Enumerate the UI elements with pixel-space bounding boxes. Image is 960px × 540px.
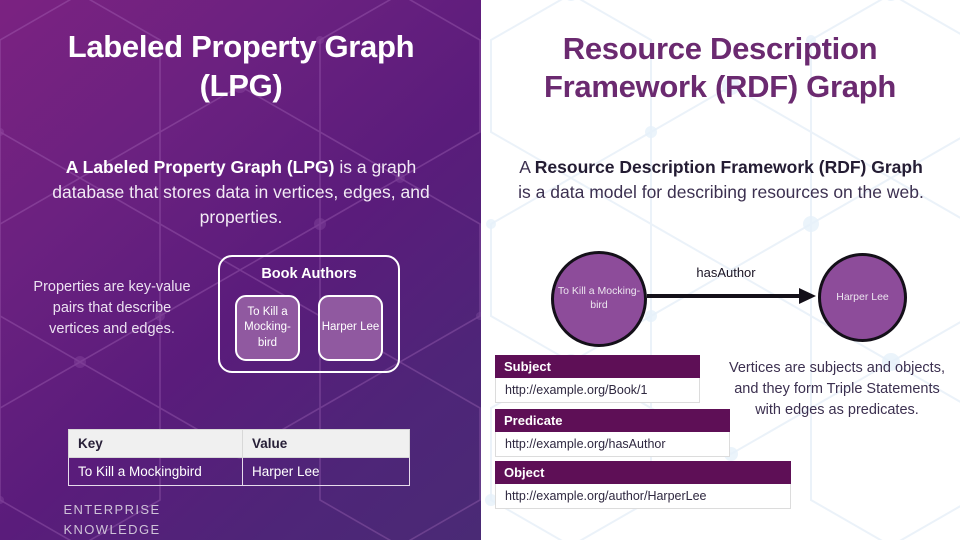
lpg-description: A Labeled Property Graph (LPG) is a grap… bbox=[28, 155, 454, 230]
triple-object-header: Object bbox=[495, 461, 791, 484]
slide-root: Labeled Property Graph (LPG) A Labeled P… bbox=[0, 0, 960, 540]
triple-predicate-header: Predicate bbox=[495, 409, 730, 432]
enterprise-knowledge-logo: ENTERPRISE KNOWLEDGE bbox=[30, 500, 194, 539]
rdf-edge-label: hasAuthor bbox=[651, 265, 801, 280]
key-value-table: Key Value To Kill a Mockingbird Harper L… bbox=[68, 429, 410, 486]
rdf-description-lead: A bbox=[519, 157, 535, 177]
triple-object-block: Object http://example.org/author/HarperL… bbox=[495, 461, 791, 509]
rdf-side-note: Vertices are subjects and objects, and t… bbox=[721, 358, 953, 421]
triple-predicate-value: http://example.org/hasAuthor bbox=[495, 432, 730, 457]
lpg-title: Labeled Property Graph (LPG) bbox=[26, 28, 456, 106]
lpg-properties-note: Properties are key-value pairs that desc… bbox=[32, 277, 192, 340]
table-cell-key: To Kill a Mockingbird bbox=[69, 458, 243, 486]
lpg-node-author: Harper Lee bbox=[318, 295, 383, 361]
lpg-panel: Labeled Property Graph (LPG) A Labeled P… bbox=[0, 0, 481, 540]
rdf-description-bold: Resource Description Framework (RDF) Gra… bbox=[535, 157, 923, 177]
triple-object-value: http://example.org/author/HarperLee bbox=[495, 484, 791, 509]
logo-line-2: KNOWLEDGE bbox=[30, 520, 194, 540]
triple-subject-block: Subject http://example.org/Book/1 bbox=[495, 355, 700, 403]
book-authors-card-title: Book Authors bbox=[220, 266, 398, 282]
rdf-title: Resource Description Framework (RDF) Gra… bbox=[487, 30, 953, 106]
triple-predicate-block: Predicate http://example.org/hasAuthor bbox=[495, 409, 730, 457]
table-header-key: Key bbox=[69, 430, 243, 458]
table-row: To Kill a Mockingbird Harper Lee bbox=[69, 458, 410, 486]
lpg-node-book: To Kill a Mocking-bird bbox=[235, 295, 300, 361]
table-cell-value: Harper Lee bbox=[243, 458, 410, 486]
rdf-description: A Resource Description Framework (RDF) G… bbox=[511, 155, 931, 205]
book-authors-card: Book Authors To Kill a Mocking-bird Harp… bbox=[218, 255, 400, 373]
logo-line-1: ENTERPRISE bbox=[30, 500, 194, 520]
rdf-edge-line bbox=[647, 294, 801, 298]
rdf-graph-diagram: To Kill a Mocking-bird hasAuthor Harper … bbox=[521, 243, 941, 353]
rdf-description-rest: is a data model for describing resources… bbox=[518, 182, 924, 202]
rdf-edge-arrowhead-icon bbox=[799, 288, 816, 304]
table-header-value: Value bbox=[243, 430, 410, 458]
rdf-node-subject: To Kill a Mocking-bird bbox=[551, 251, 647, 347]
triple-subject-value: http://example.org/Book/1 bbox=[495, 378, 700, 403]
table-header-row: Key Value bbox=[69, 430, 410, 458]
rdf-panel: Resource Description Framework (RDF) Gra… bbox=[481, 0, 960, 540]
rdf-node-object: Harper Lee bbox=[818, 253, 907, 342]
lpg-description-bold: A Labeled Property Graph (LPG) bbox=[66, 157, 335, 177]
triple-subject-header: Subject bbox=[495, 355, 700, 378]
